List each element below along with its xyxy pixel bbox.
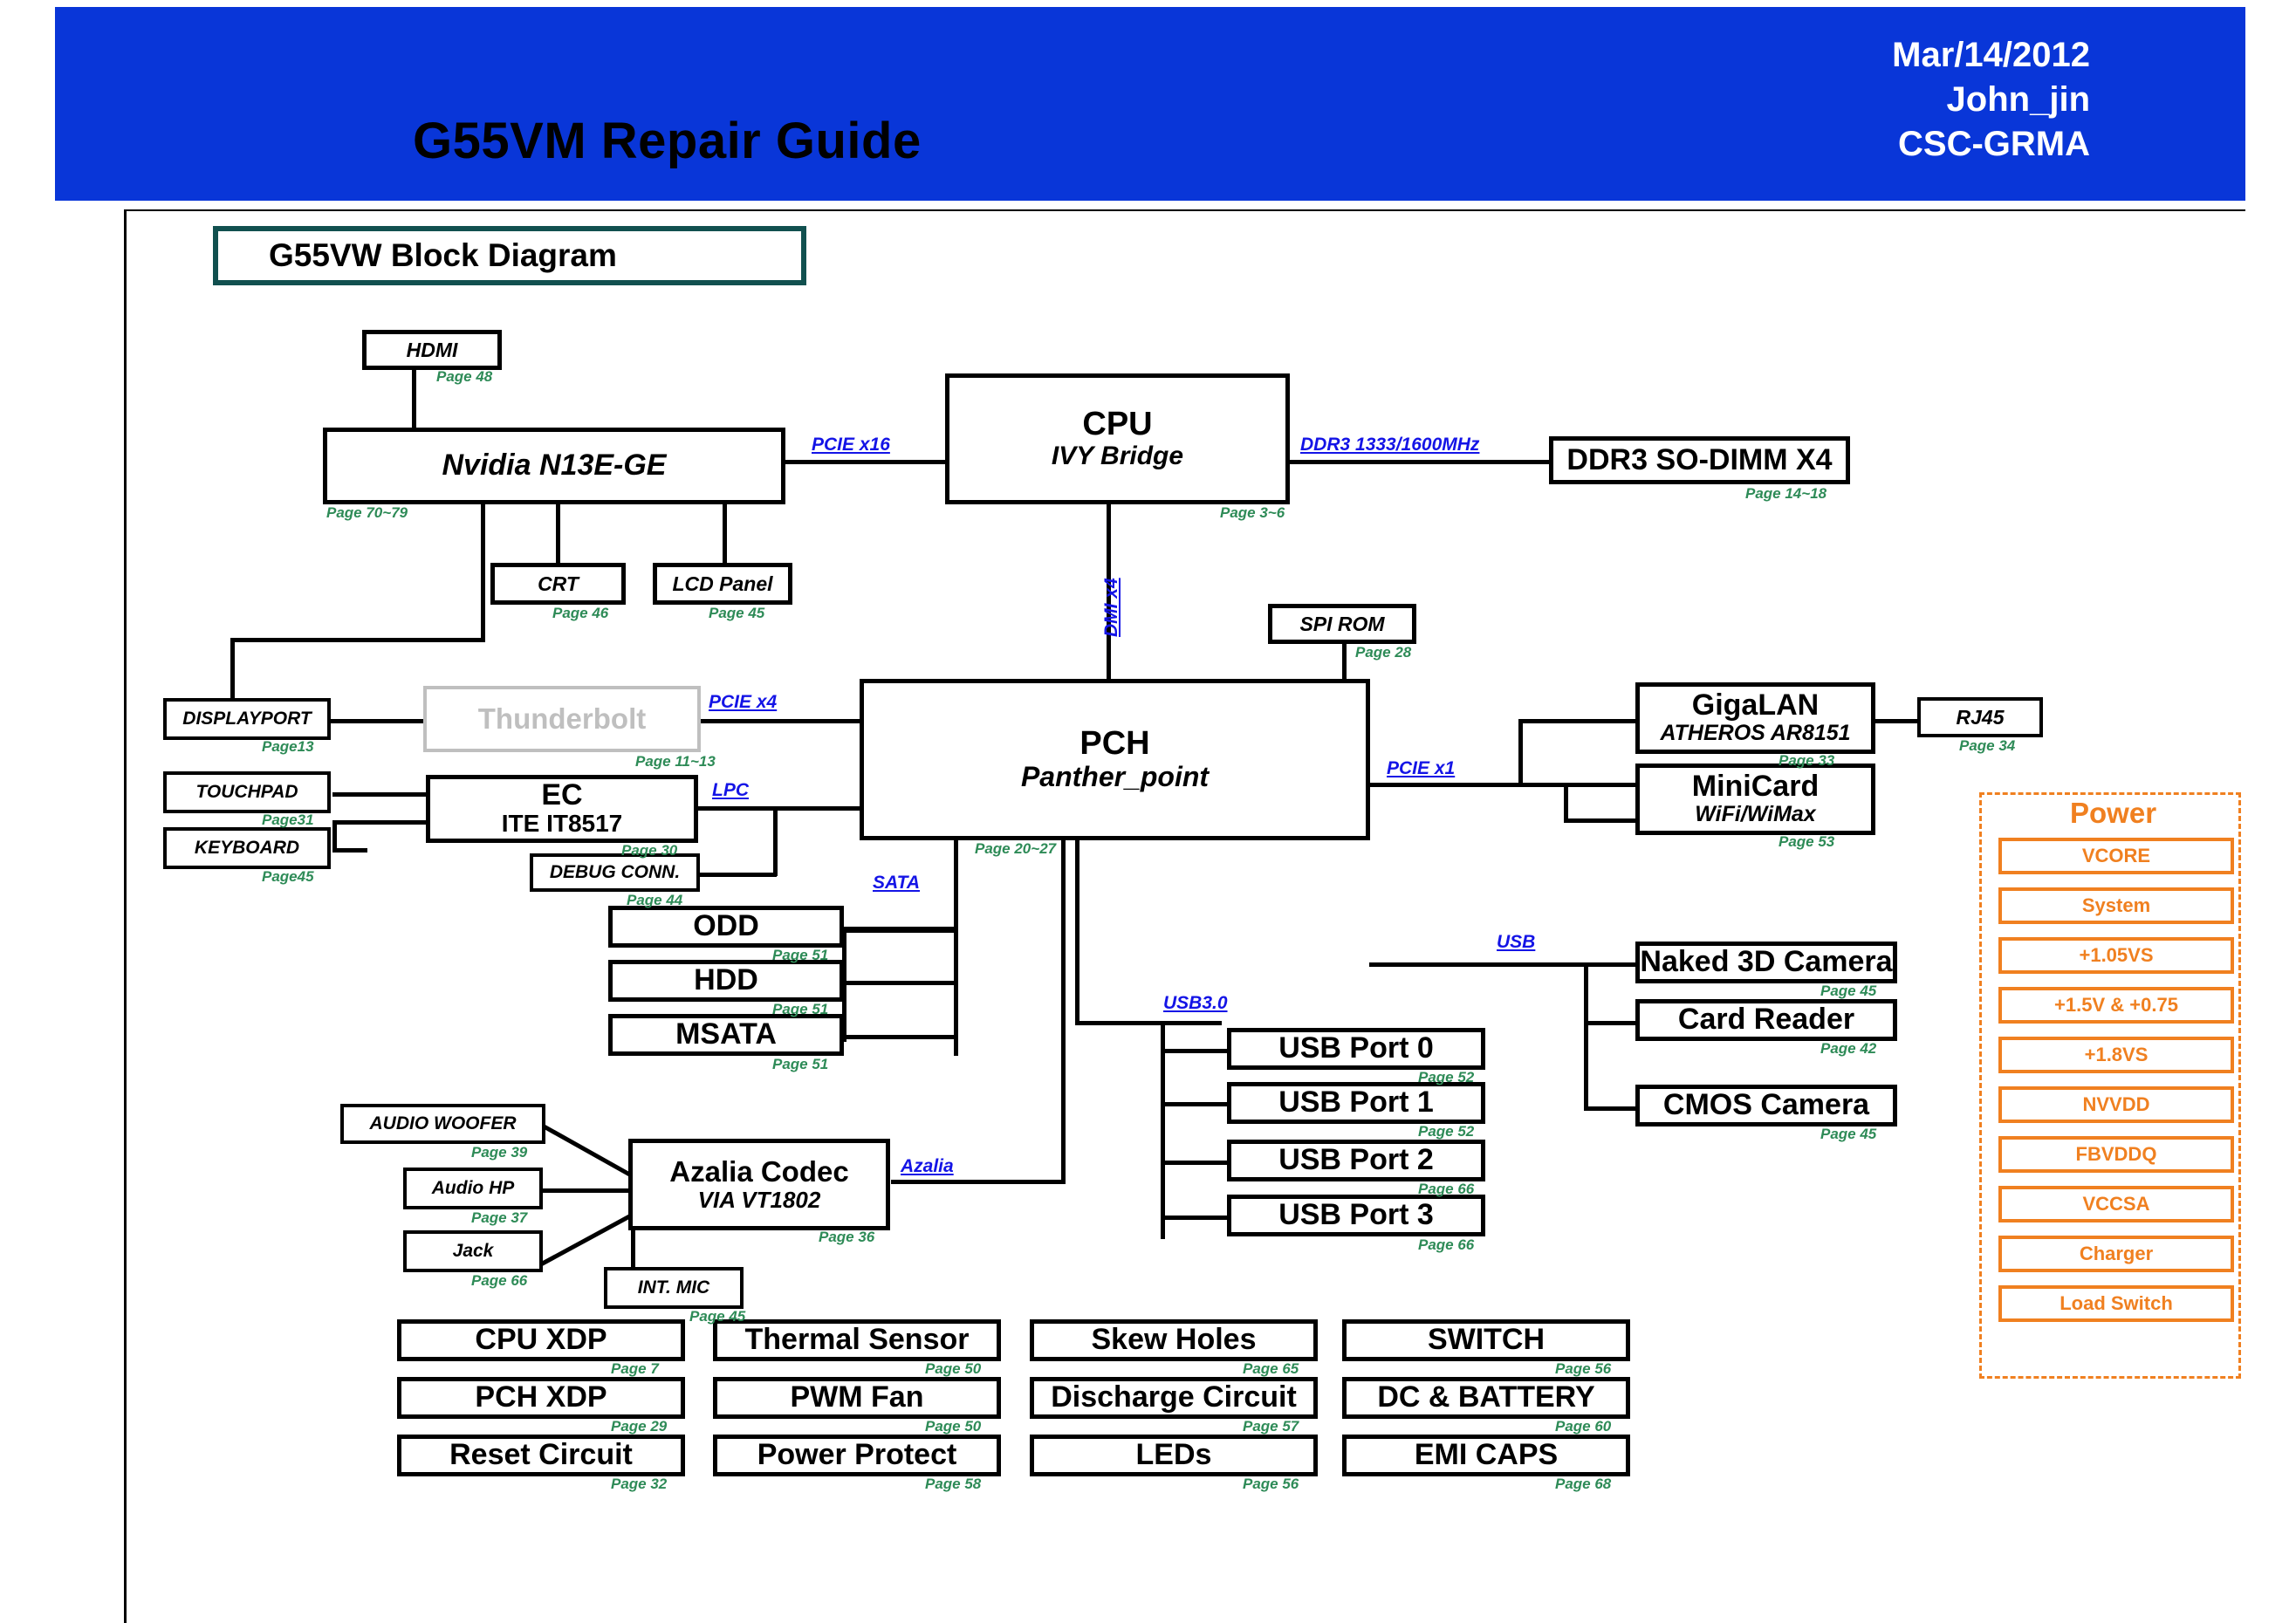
bus-label-usb30: USB3.0 [1163,993,1228,1014]
power-rail-1p05vs[interactable]: +1.05VS [1998,937,2234,974]
line-usb-right-spine [1584,962,1588,1111]
block-switch[interactable]: SWITCH [1342,1319,1630,1361]
line-gpu-to-dp-h [230,638,485,642]
header-date: Mar/14/2012 [1636,33,2090,78]
page-ref-woofer: Page 39 [471,1144,527,1161]
page-ref-switch: Page 56 [1555,1360,1611,1378]
line-usb2 [1161,1161,1230,1165]
power-rail-system[interactable]: System [1998,887,2234,924]
page-ref-jack: Page 66 [471,1272,527,1290]
page-title: G55VM Repair Guide [413,112,1198,170]
page-ref-emicaps: Page 68 [1555,1476,1611,1493]
block-label: Azalia Codec [669,1157,848,1188]
bus-label-usb: USB [1497,932,1535,953]
block-ec[interactable]: EC ITE IT8517 [426,775,698,843]
line-odd [842,927,957,931]
page-ref-cpu: Page 3~6 [1220,504,1285,522]
header-author: John_jin [1636,78,2090,122]
bus-label-pcie-x1: PCIE x1 [1387,758,1455,779]
line-gpu-crt [556,504,560,568]
block-cmos-camera[interactable]: CMOS Camera [1635,1085,1897,1127]
page-ref-audiohp: Page 37 [471,1209,527,1227]
bus-label-azalia: Azalia [901,1156,954,1177]
page-ref-debug: Page 44 [627,892,682,909]
block-label: HDD [694,965,758,996]
line-gpu-cpu [783,460,950,464]
block-usb-port-0[interactable]: USB Port 0 [1227,1028,1485,1070]
line-pcie-x1-up [1518,719,1523,785]
line-debug-h [698,873,777,877]
block-thermal-sensor[interactable]: Thermal Sensor [713,1319,1001,1361]
block-ddr3-sodimm[interactable]: DDR3 SO-DIMM X4 [1549,436,1850,484]
block-label: Discharge Circuit [1051,1382,1297,1414]
line-gpu-down [481,504,485,638]
page-ref-gigalan: Page 33 [1779,752,1834,770]
block-label: Thunderbolt [478,704,646,735]
power-heading: Power [2070,797,2156,830]
line-usb3-spine [1161,1021,1165,1239]
page-ref-codec: Page 36 [819,1229,874,1246]
page-ref-thunderbolt: Page 11~13 [635,753,716,770]
diagram-frame-top-rule [1292,209,2245,211]
line-hdd [842,981,957,985]
page-ref-cmoscamera: Page 45 [1820,1126,1876,1143]
line-pch-usb-right [1369,962,1587,967]
block-label: LEDs [1136,1440,1212,1471]
page-ref-usb3: Page 66 [1418,1236,1474,1254]
block-power-protect[interactable]: Power Protect [713,1435,1001,1476]
block-label: CPU [1082,407,1152,442]
page-ref-pch: Page 20~27 [975,840,1056,858]
bus-label-ddr3: DDR3 1333/1600MHz [1300,435,1479,455]
block-usb-port-2[interactable]: USB Port 2 [1227,1140,1485,1181]
block-label: GigaLAN [1692,690,1819,722]
block-label: TOUCHPAD [195,783,298,802]
line-usb0 [1161,1049,1230,1053]
line-minicard-h [1564,818,1638,823]
bus-label-dmi-x4: DMI x4 [1101,578,1122,637]
block-label: EMI CAPS [1415,1440,1558,1471]
page-ref-cardreader: Page 42 [1820,1040,1876,1058]
block-skew-holes[interactable]: Skew Holes [1030,1319,1318,1361]
block-card-reader[interactable]: Card Reader [1635,999,1897,1041]
block-label: USB Port 2 [1278,1145,1434,1176]
block-cpu-xdp[interactable]: CPU XDP [397,1319,685,1361]
power-rail-vcore[interactable]: VCORE [1998,838,2234,874]
power-rail-load-switch[interactable]: Load Switch [1998,1285,2234,1322]
page-ref-keyboard: Page45 [262,868,314,886]
page-ref-skewholes: Page 65 [1243,1360,1299,1378]
block-pch[interactable]: PCH Panther_point [860,679,1370,840]
block-label: MSATA [675,1019,777,1051]
block-jack[interactable]: Jack [403,1230,543,1272]
block-azalia-codec[interactable]: Azalia Codec VIA VT1802 [628,1139,890,1230]
block-label: USB Port 0 [1278,1033,1434,1065]
block-label: AUDIO WOOFER [370,1114,517,1133]
line-spirom-pch [1342,644,1347,681]
block-label: Naked 3D Camera [1640,947,1892,978]
line-dp-thunderbolt [329,719,425,723]
block-gpu[interactable]: Nvidia N13E-GE [323,428,785,504]
block-label: DISPLAYPORT [182,709,311,729]
block-naked-3d-camera[interactable]: Naked 3D Camera [1635,942,1897,983]
header-org: CSC-GRMA [1636,122,2090,167]
line-keyboard-ec-h2 [332,820,428,825]
page-ref-thermal: Page 50 [925,1360,981,1378]
line-gigalan-h [1518,719,1636,723]
block-dc-battery[interactable]: DC & BATTERY [1342,1377,1630,1419]
block-audio-woofer[interactable]: AUDIO WOOFER [340,1104,545,1144]
line-usb1 [1161,1102,1230,1106]
block-label: Thermal Sensor [745,1325,970,1356]
line-usb3-join-h [1075,1021,1162,1025]
block-gigalan[interactable]: GigaLAN ATHEROS AR8151 [1635,682,1875,754]
line-usb3p [1161,1216,1230,1220]
page-ref-rj45: Page 34 [1959,737,2015,755]
power-rail-fbvddq[interactable]: FBVDDQ [1998,1136,2234,1173]
block-label: USB Port 1 [1278,1087,1434,1119]
line-codec-azalia-v [1061,839,1066,1181]
block-sublabel: ATHEROS AR8151 [1660,722,1850,746]
block-label: SWITCH [1428,1325,1545,1356]
line-minicard-v [1564,783,1568,821]
block-audio-hp[interactable]: Audio HP [403,1168,543,1209]
page-ref-usb1: Page 52 [1418,1123,1474,1140]
block-label: Jack [453,1242,494,1261]
title-banner: G55VM Repair Guide Mar/14/2012 John_jin … [55,7,2245,201]
line-pch-usb3-v [1075,839,1079,1023]
block-label: ODD [693,911,759,942]
block-hdd[interactable]: HDD [608,960,844,1002]
page-ref-hdd: Page 51 [772,1001,828,1018]
line-msata [842,1035,957,1039]
page-ref-odd: Page 51 [772,947,828,964]
page-ref-reset: Page 32 [611,1476,667,1493]
page-ref-minicard: Page 53 [1779,833,1834,851]
block-rj45[interactable]: RJ45 [1917,697,2043,737]
bus-label-lpc: LPC [712,780,749,801]
block-label: CMOS Camera [1663,1090,1869,1121]
block-leds[interactable]: LEDs [1030,1435,1318,1476]
block-label: DDR3 SO-DIMM X4 [1566,445,1832,476]
bus-label-sata: SATA [873,873,920,894]
page-ref-ec: Page 30 [621,842,677,859]
power-rail-charger[interactable]: Charger [1998,1236,2234,1272]
block-label: MiniCard [1692,771,1819,803]
block-thunderbolt[interactable]: Thunderbolt [423,686,701,752]
block-label: Skew Holes [1092,1325,1257,1356]
block-label: INT. MIC [638,1278,709,1298]
line-audiohp-codec [541,1188,633,1193]
block-hdmi[interactable]: HDMI [362,330,502,370]
block-sublabel: ITE IT8517 [502,811,623,838]
page-ref-dcbattery: Page 60 [1555,1418,1611,1435]
block-pwm-fan[interactable]: PWM Fan [713,1377,1001,1419]
block-label: USB Port 3 [1278,1200,1434,1231]
header-meta: Mar/14/2012 John_jin CSC-GRMA [1636,33,2090,168]
block-odd[interactable]: ODD [608,906,844,948]
diagram-title: G55VW Block Diagram [213,226,806,285]
diagram-title-label: G55VW Block Diagram [269,237,617,274]
line-thunderbolt-pch [698,719,864,723]
power-rail-1p5v-0p75[interactable]: +1.5V & +0.75 [1998,987,2234,1024]
line-gpu-lcd [723,504,727,568]
block-cpu[interactable]: CPU IVY Bridge [945,373,1290,504]
block-label: DEBUG CONN. [550,863,680,882]
bus-label-pcie-x4: PCIE x4 [709,692,777,713]
line-usb3-h [1161,1021,1222,1025]
block-label: Audio HP [432,1179,515,1198]
block-label: RJ45 [1957,707,2005,728]
block-spi-rom[interactable]: SPI ROM [1268,604,1416,644]
page-ref-usb0: Page 52 [1418,1069,1474,1086]
block-label: DC & BATTERY [1377,1382,1594,1414]
block-label: HDMI [407,339,458,360]
block-int-mic[interactable]: INT. MIC [604,1267,744,1309]
block-usb-port-3[interactable]: USB Port 3 [1227,1195,1485,1236]
page-ref-leds: Page 56 [1243,1476,1299,1493]
page-ref-usb2: Page 66 [1418,1181,1474,1198]
block-msata[interactable]: MSATA [608,1014,844,1056]
page-ref-hdmi: Page 48 [436,368,492,386]
block-minicard[interactable]: MiniCard WiFi/WiMax [1635,764,1875,835]
power-rail-nvvdd[interactable]: NVVDD [1998,1086,2234,1123]
line-cmoscamera [1584,1106,1636,1111]
block-label: Card Reader [1678,1004,1854,1036]
page-ref-discharge: Page 57 [1243,1418,1299,1435]
block-keyboard[interactable]: KEYBOARD [163,827,331,869]
page-ref-pwmfan: Page 50 [925,1418,981,1435]
page-ref-msata: Page 51 [772,1056,828,1073]
page-ref-spirom: Page 28 [1355,644,1411,661]
block-label: CPU XDP [475,1325,607,1356]
block-label: EC [541,780,582,811]
power-rail-vccsa[interactable]: VCCSA [1998,1186,2234,1222]
page-ref-ddr3: Page 14~18 [1745,485,1827,503]
line-ec-pch [698,806,864,811]
block-label: LCD Panel [672,573,772,594]
block-sublabel: Panther_point [1021,762,1209,792]
block-label: CRT [538,573,579,594]
block-label: Power Protect [757,1440,957,1471]
block-displayport[interactable]: DISPLAYPORT [163,698,331,740]
block-usb-port-1[interactable]: USB Port 1 [1227,1082,1485,1124]
block-label: KEYBOARD [195,839,299,858]
block-pch-xdp[interactable]: PCH XDP [397,1377,685,1419]
line-keyboard-ec-v [332,820,337,852]
block-label: PCH XDP [475,1382,607,1414]
line-cardreader [1584,1021,1636,1025]
block-sublabel: VIA VT1802 [698,1188,821,1213]
block-label: PWM Fan [791,1382,924,1414]
block-label: Nvidia N13E-GE [442,450,667,482]
block-crt[interactable]: CRT [490,563,626,605]
block-label: SPI ROM [1299,613,1384,634]
block-label: Reset Circuit [449,1440,633,1471]
block-sublabel: IVY Bridge [1052,442,1183,470]
line-touchpad-ec [332,792,428,797]
page-ref-crt: Page 46 [552,605,608,622]
block-sublabel: WiFi/WiMax [1695,803,1815,827]
block-touchpad[interactable]: TOUCHPAD [163,771,331,813]
block-discharge-circuit[interactable]: Discharge Circuit [1030,1377,1318,1419]
page-ref-intmic: Page 45 [689,1308,745,1325]
page-ref-naked3d: Page 45 [1820,983,1876,1000]
page-ref-gpu: Page 70~79 [326,504,408,522]
line-keyboard-ec-h1 [332,848,367,853]
block-label: PCH [1079,727,1149,762]
page-ref-displayport: Page13 [262,738,314,756]
page-ref-cpuxdp: Page 7 [611,1360,659,1378]
line-pch-pcie-x1 [1369,783,1636,787]
block-lcd-panel[interactable]: LCD Panel [653,563,792,605]
power-rail-1p8vs[interactable]: +1.8VS [1998,1037,2234,1073]
block-emi-caps[interactable]: EMI CAPS [1342,1435,1630,1476]
page-ref-powerprotect: Page 58 [925,1476,981,1493]
page-ref-pchxdp: Page 29 [611,1418,667,1435]
page-ref-touchpad: Page31 [262,811,314,829]
line-cpu-ddr3 [1289,460,1551,464]
line-debug-v [773,806,778,876]
block-reset-circuit[interactable]: Reset Circuit [397,1435,685,1476]
bus-label-pcie-x16: PCIE x16 [812,435,890,455]
line-naked3d [1584,962,1636,967]
line-codec-azalia-h [891,1180,1066,1184]
page-ref-lcd: Page 45 [709,605,764,622]
